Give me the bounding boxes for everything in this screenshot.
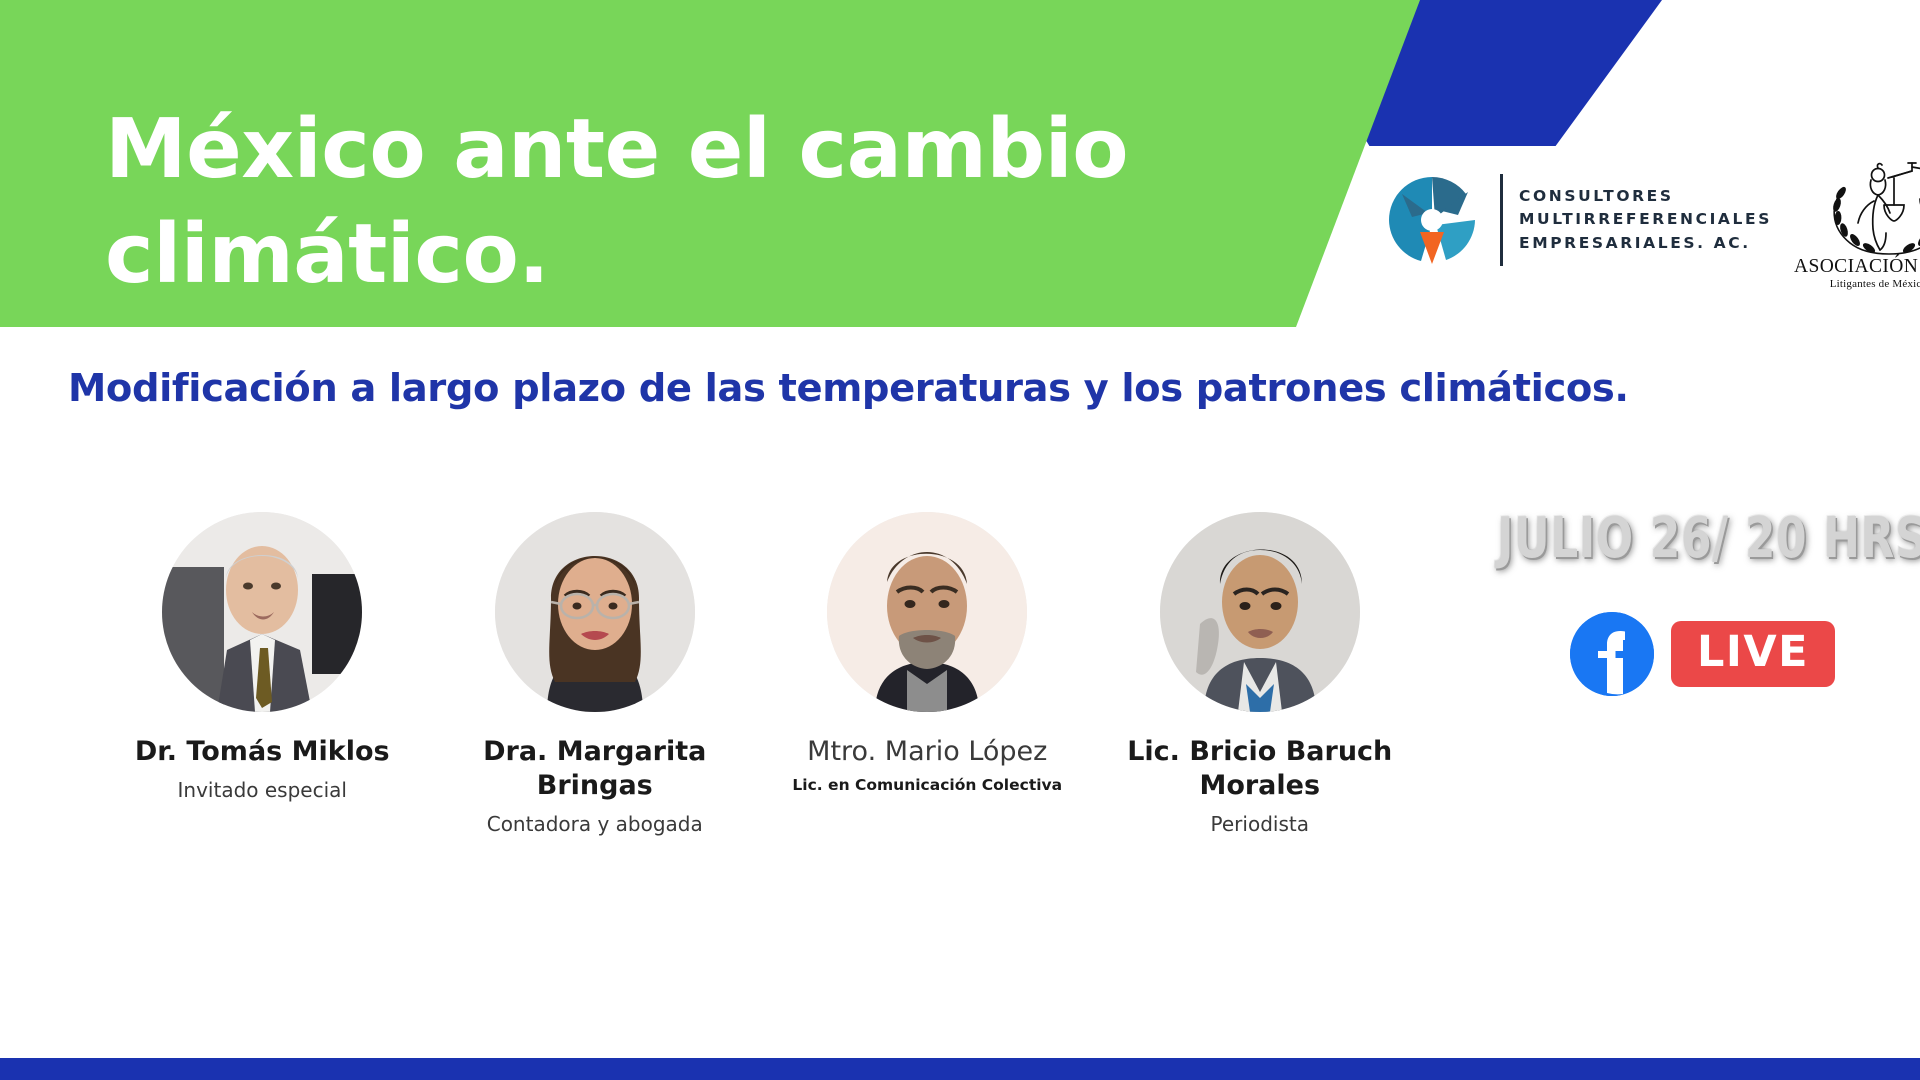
speaker-role: Lic. en Comunicación Colectiva: [761, 776, 1094, 794]
page-title: México ante el cambio climático.: [105, 98, 1225, 308]
logo-consultores: CONSULTORES MULTIRREFERENCIALES EMPRESAR…: [1380, 168, 1772, 272]
avatar: [827, 512, 1027, 712]
consultores-line-1: CONSULTORES: [1519, 185, 1772, 209]
title-line-1: México ante el cambio: [105, 98, 1225, 203]
speaker-card: Lic. Bricio Baruch Morales Periodista: [1094, 512, 1427, 836]
speaker-card: Mtro. Mario López Lic. en Comunicación C…: [761, 512, 1094, 794]
consultores-wordmark: CONSULTORES MULTIRREFERENCIALES EMPRESAR…: [1519, 185, 1772, 256]
speaker-card: Dra. Margarita Bringas Contadora y aboga…: [429, 512, 762, 836]
avatar: [162, 512, 362, 712]
bottom-bar: [0, 1058, 1920, 1080]
event-poster: México ante el cambio climático.: [0, 0, 1920, 1080]
speaker-name: Mtro. Mario López: [761, 735, 1094, 769]
facebook-live-badge[interactable]: LIVE: [1570, 612, 1835, 696]
speaker-role: Invitado especial: [96, 778, 429, 802]
consultores-line-2: MULTIRREFERENCIALES: [1519, 208, 1772, 232]
live-label[interactable]: LIVE: [1671, 621, 1835, 687]
speaker-role: Periodista: [1094, 812, 1427, 836]
speaker-card: Dr. Tomás Miklos Invitado especial: [96, 512, 429, 802]
speaker-role: Contadora y abogada: [429, 812, 762, 836]
avatar: [1160, 512, 1360, 712]
lady-justice-laurel-icon: [1814, 151, 1920, 259]
speaker-name: Dr. Tomás Miklos: [96, 735, 429, 769]
title-line-2: climático.: [105, 203, 1225, 308]
title-clip-region: México ante el cambio climático.: [0, 0, 1420, 327]
event-date: JULIO 26/ 20 HRS: [1497, 506, 1817, 571]
avatar: [495, 512, 695, 712]
logo-divider: [1500, 174, 1503, 266]
logo-abogados: ASOCIACIÓN DE ABOGADOS Litigantes de Méx…: [1794, 151, 1920, 290]
speaker-name: Lic. Bricio Baruch Morales: [1094, 735, 1427, 803]
green-banner: México ante el cambio climático.: [0, 0, 1420, 327]
page-subtitle: Modificación a largo plazo de las temper…: [68, 366, 1868, 411]
speakers-list: Dr. Tomás Miklos Invitado especial: [96, 512, 1426, 836]
logo-row: CONSULTORES MULTIRREFERENCIALES EMPRESAR…: [1380, 150, 1920, 290]
abogados-subtitle: Litigantes de México A.C: [1794, 278, 1920, 290]
speaker-name: Dra. Margarita Bringas: [429, 735, 762, 803]
consultores-line-3: EMPRESARIALES. AC.: [1519, 232, 1772, 256]
cme-circle-mark-icon: [1380, 168, 1484, 272]
facebook-icon[interactable]: [1570, 612, 1654, 696]
